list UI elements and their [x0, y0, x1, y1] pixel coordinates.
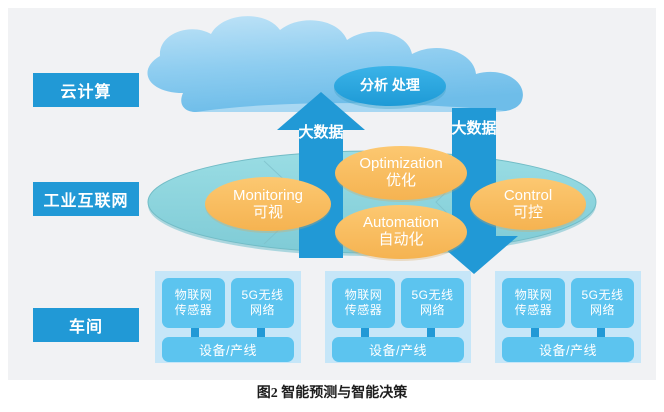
cell-line2: 网络: [250, 303, 275, 318]
cell-line2: 传感器: [175, 303, 213, 318]
workshop-top-row: 物联网 传感器 5G无线 网络: [332, 278, 464, 328]
workshop-equipment-line: 设备/产线: [332, 337, 464, 362]
cell-line2: 网络: [590, 303, 615, 318]
connector-right-icon: [257, 328, 265, 337]
cell-line1: 物联网: [345, 288, 383, 303]
workshop-cell-iot-sensor: 物联网 传感器: [162, 278, 225, 328]
workshop-group: 物联网 传感器 5G无线 网络 设备/产线: [155, 271, 301, 363]
cell-line2: 传感器: [515, 303, 553, 318]
connector-left-icon: [191, 328, 199, 337]
oval-control: [470, 178, 586, 232]
workshop-equipment-line: 设备/产线: [162, 337, 294, 362]
layer-label-cloud: 云计算: [33, 73, 139, 107]
cloud-shape: [147, 16, 522, 112]
analysis-oval: [334, 66, 446, 109]
layer-label-industrial-internet: 工业互联网: [33, 182, 139, 216]
cell-line1: 5G无线: [411, 288, 453, 303]
oval-optimization: [335, 146, 467, 202]
workshop-connectors: [332, 328, 464, 337]
connector-left-icon: [531, 328, 539, 337]
workshop-group: 物联网 传感器 5G无线 网络 设备/产线: [325, 271, 471, 363]
connector-left-icon: [361, 328, 369, 337]
workshop-equipment-label: 设备/产线: [369, 340, 427, 359]
workshop-top-row: 物联网 传感器 5G无线 网络: [502, 278, 634, 328]
workshop-equipment-label: 设备/产线: [539, 340, 597, 359]
cell-line1: 物联网: [175, 288, 213, 303]
layer-label-workshop: 车间: [33, 308, 139, 342]
workshop-connectors: [162, 328, 294, 337]
connector-right-icon: [427, 328, 435, 337]
workshop-cell-iot-sensor: 物联网 传感器: [332, 278, 395, 328]
workshop-equipment-line: 设备/产线: [502, 337, 634, 362]
cell-line1: 5G无线: [581, 288, 623, 303]
workshop-cell-5g-network: 5G无线 网络: [571, 278, 634, 328]
connector-right-icon: [597, 328, 605, 337]
workshop-cell-iot-sensor: 物联网 传感器: [502, 278, 565, 328]
workshop-cell-5g-network: 5G无线 网络: [231, 278, 294, 328]
workshop-equipment-label: 设备/产线: [199, 340, 257, 359]
workshop-top-row: 物联网 传感器 5G无线 网络: [162, 278, 294, 328]
cell-line2: 传感器: [345, 303, 383, 318]
workshop-group: 物联网 传感器 5G无线 网络 设备/产线: [495, 271, 641, 363]
workshop-cell-5g-network: 5G无线 网络: [401, 278, 464, 328]
oval-monitoring: [205, 177, 331, 233]
oval-automation: [335, 205, 467, 261]
figure-caption: 图2 智能预测与智能决策: [0, 382, 664, 402]
cell-line2: 网络: [420, 303, 445, 318]
figure-panel: 云计算 工业互联网 车间 分析 处理 大数据 大数据 Monitoring 可视…: [8, 8, 656, 380]
cell-line1: 5G无线: [241, 288, 283, 303]
workshop-connectors: [502, 328, 634, 337]
cell-line1: 物联网: [515, 288, 553, 303]
